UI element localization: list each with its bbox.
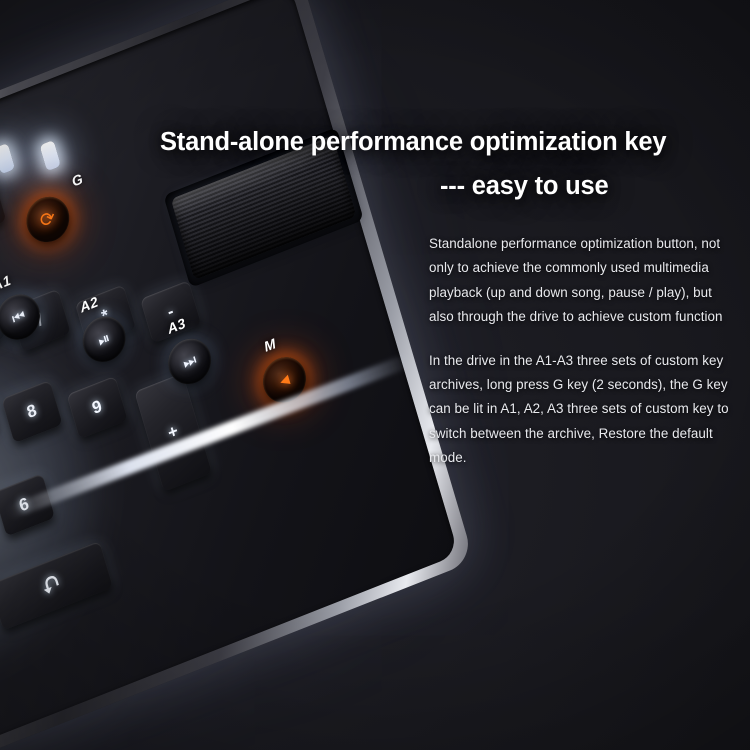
- play-pause-icon: ⏯: [96, 329, 112, 350]
- headline-secondary: --- easy to use: [440, 172, 608, 201]
- description-paragraph-2: In the drive in the A1-A3 three sets of …: [429, 349, 735, 471]
- next-track-icon: ⏭: [181, 351, 198, 372]
- headline-primary: Stand-alone performance optimization key: [160, 128, 666, 157]
- description-column: Standalone performance optimization butt…: [429, 232, 735, 471]
- description-paragraph-1: Standalone performance optimization butt…: [429, 232, 735, 330]
- previous-track-icon: ⏮: [10, 306, 27, 327]
- refresh-icon: ⟳: [37, 205, 58, 233]
- macro-icon: ◂: [277, 367, 292, 393]
- product-feature-banner: PB NUM LK / * - 7 8 9 + 5 6 3 ⮏ ⟳ G ⏮ A1…: [0, 0, 750, 750]
